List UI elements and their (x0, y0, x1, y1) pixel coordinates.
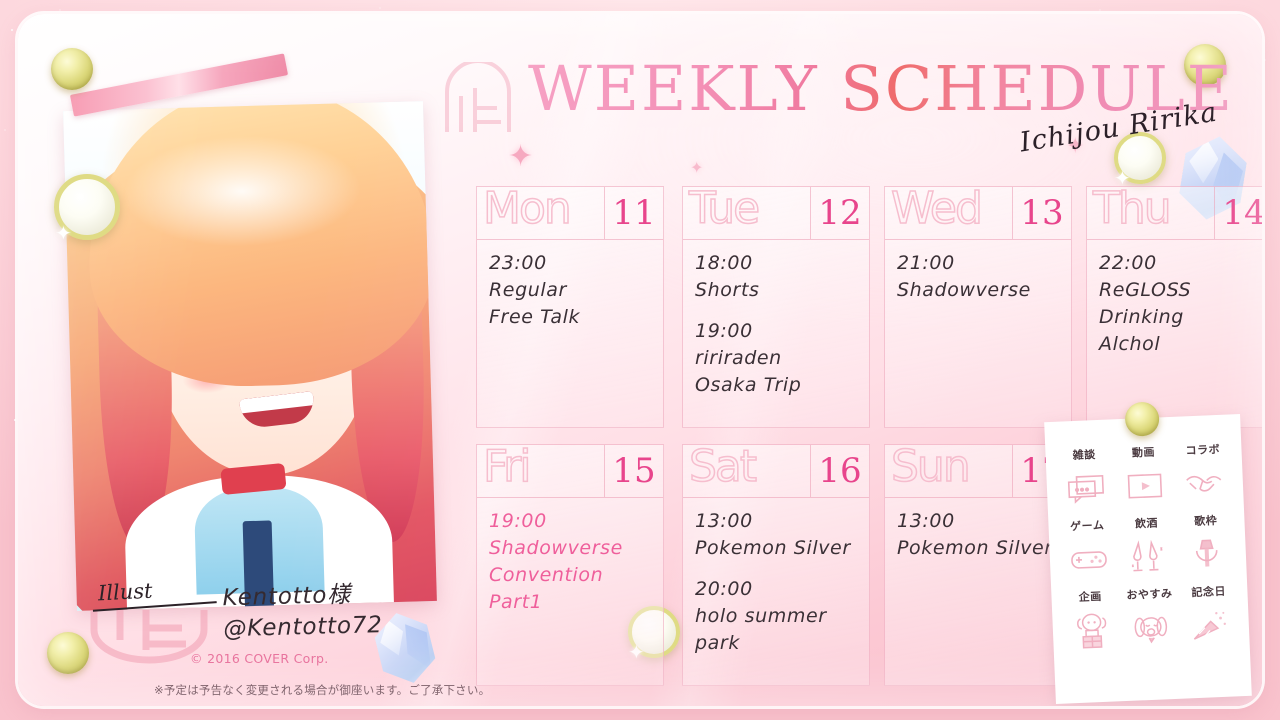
mascot-gift-icon (1062, 606, 1121, 654)
day-events: 18:00Shorts19:00ririraden Osaka Trip (683, 240, 869, 407)
character-illustration (63, 101, 437, 611)
event-description: Regular Free Talk (489, 277, 651, 331)
legend-label: 雑談 (1055, 445, 1113, 463)
video-play-icon (1115, 462, 1174, 510)
day-name: Sun (891, 441, 969, 492)
event-entry: 22:00ReGLOSS Drinking Alchol (1099, 250, 1261, 358)
event-description: ririraden Osaka Trip (695, 345, 857, 399)
legend-label: 動画 (1115, 443, 1173, 461)
day-card-tue: Tue1218:00Shorts19:00ririraden Osaka Tri… (682, 186, 870, 428)
legend-label: コラボ (1174, 440, 1232, 458)
illust-label: Illust (97, 579, 153, 606)
legend-label: おやすみ (1120, 585, 1178, 603)
legend-label: ゲーム (1058, 516, 1116, 534)
event-description: Shadowverse Convention Part1 (489, 535, 651, 616)
legend-label: 記念日 (1180, 582, 1238, 600)
legend-label: 企画 (1061, 587, 1119, 605)
day-header: Fri15 (477, 445, 663, 498)
sparkle-icon-left: ✦ (508, 142, 533, 172)
day-date-number: 12 (810, 187, 869, 239)
event-entry: 13:00Pokemon Silver (695, 508, 857, 562)
day-date-number: 16 (810, 445, 869, 497)
artist-handle: @Kentotto72 (223, 608, 474, 646)
hololive-arch-logo-icon (441, 62, 515, 134)
day-card-thu: Thu1422:00ReGLOSS Drinking Alchol (1086, 186, 1262, 428)
day-name: Wed (891, 183, 981, 234)
event-entry: 19:00ririraden Osaka Trip (695, 318, 857, 399)
day-header: Thu14 (1087, 187, 1262, 240)
day-header: Wed13 (885, 187, 1071, 240)
day-card-mon: Mon1123:00Regular Free Talk (476, 186, 664, 428)
day-name: Tue (689, 183, 758, 234)
event-time: 13:00 (897, 508, 1059, 535)
gamepad-icon (1059, 535, 1118, 583)
legend-item-microphone: 歌枠 (1177, 511, 1237, 578)
event-time: 19:00 (695, 318, 857, 345)
event-time: 23:00 (489, 250, 651, 277)
disclaimer-note: ※予定は予告なく変更される場合が御座います。ご了承下さい。 (154, 682, 490, 698)
day-header: Sat16 (683, 445, 869, 498)
legend-item-sleeping-dog: おやすみ (1120, 585, 1180, 652)
event-description: Pokemon Silver (695, 535, 857, 562)
day-events: 19:00Shadowverse Convention Part1 (477, 498, 663, 624)
legend-item-chat-bubbles: 雑談 (1055, 445, 1115, 512)
legend-card: 雑談動画コラボゲーム飲酒歌枠企画おやすみ記念日 (1044, 414, 1252, 704)
event-entry: 21:00Shadowverse (897, 250, 1059, 304)
copyright-text: © 2016 COVER Corp. (190, 651, 329, 666)
legend-item-champagne-glasses: 飲酒 (1118, 514, 1178, 581)
day-events: 13:00Pokemon Silver (885, 498, 1071, 570)
event-time: 19:00 (489, 508, 651, 535)
day-name: Mon (483, 183, 570, 234)
legend-item-gamepad: ゲーム (1058, 516, 1118, 583)
schedule-graphic: ✦ ✦ ✦ WEEKLY SCHEDULE Ichijou Ririka Mon… (0, 0, 1280, 720)
event-time: 20:00 (695, 576, 857, 603)
gold-pin-top-left (51, 48, 93, 90)
event-entry: 23:00Regular Free Talk (489, 250, 651, 331)
event-time: 18:00 (695, 250, 857, 277)
day-header: Tue12 (683, 187, 869, 240)
event-time: 13:00 (695, 508, 857, 535)
legend-item-handshake: コラボ (1174, 440, 1234, 507)
gold-pin-legend (1124, 401, 1159, 436)
event-description: Shorts (695, 277, 857, 304)
event-description: Shadowverse (897, 277, 1059, 304)
day-events: 23:00Regular Free Talk (477, 240, 663, 339)
day-date-number: 15 (604, 445, 663, 497)
event-description: ReGLOSS Drinking Alchol (1099, 277, 1261, 358)
day-date-number: 13 (1012, 187, 1071, 239)
day-header: Mon11 (477, 187, 663, 240)
legend-item-mascot-gift: 企画 (1061, 587, 1121, 654)
day-card-fri: Fri1519:00Shadowverse Convention Part1 (476, 444, 664, 686)
event-entry: 19:00Shadowverse Convention Part1 (489, 508, 651, 616)
pearl-decor-left (54, 174, 120, 240)
event-description: Pokemon Silver (897, 535, 1059, 562)
chat-bubbles-icon (1056, 464, 1115, 512)
main-panel: ✦ ✦ ✦ WEEKLY SCHEDULE Ichijou Ririka Mon… (18, 14, 1262, 706)
party-popper-icon (1181, 601, 1240, 649)
event-time: 22:00 (1099, 250, 1261, 277)
event-time: 21:00 (897, 250, 1059, 277)
gold-pin-bottom-left (47, 632, 89, 674)
day-name: Sat (689, 441, 755, 492)
day-header: Sun17 (885, 445, 1071, 498)
day-card-wed: Wed1321:00Shadowverse (884, 186, 1072, 428)
day-card-sat: Sat1613:00Pokemon Silver20:00holo summer… (682, 444, 870, 686)
day-events: 22:00ReGLOSS Drinking Alchol (1087, 240, 1262, 366)
day-events: 21:00Shadowverse (885, 240, 1071, 312)
event-entry: 13:00Pokemon Silver (897, 508, 1059, 562)
day-name: Fri (483, 441, 529, 492)
day-card-sun: Sun1713:00Pokemon Silver (884, 444, 1072, 686)
sleeping-dog-icon (1121, 604, 1180, 652)
day-date-number: 11 (604, 187, 663, 239)
event-description: holo summer park (695, 603, 857, 657)
day-name: Thu (1093, 183, 1170, 234)
event-entry: 20:00holo summer park (695, 576, 857, 657)
day-events: 13:00Pokemon Silver20:00holo summer park (683, 498, 869, 665)
handshake-icon (1175, 459, 1234, 507)
champagne-glasses-icon (1118, 533, 1177, 581)
legend-item-video-play: 動画 (1115, 443, 1175, 510)
legend-label: 飲酒 (1118, 514, 1176, 532)
day-date-number: 14 (1214, 187, 1262, 239)
microphone-icon (1178, 530, 1237, 578)
legend-label: 歌枠 (1177, 511, 1235, 529)
artist-credit: Kentotto様 @Kentotto72 (222, 577, 474, 646)
event-entry: 18:00Shorts (695, 250, 857, 304)
sparkle-icon-mid: ✦ (690, 160, 703, 176)
legend-item-party-popper: 記念日 (1180, 582, 1240, 649)
